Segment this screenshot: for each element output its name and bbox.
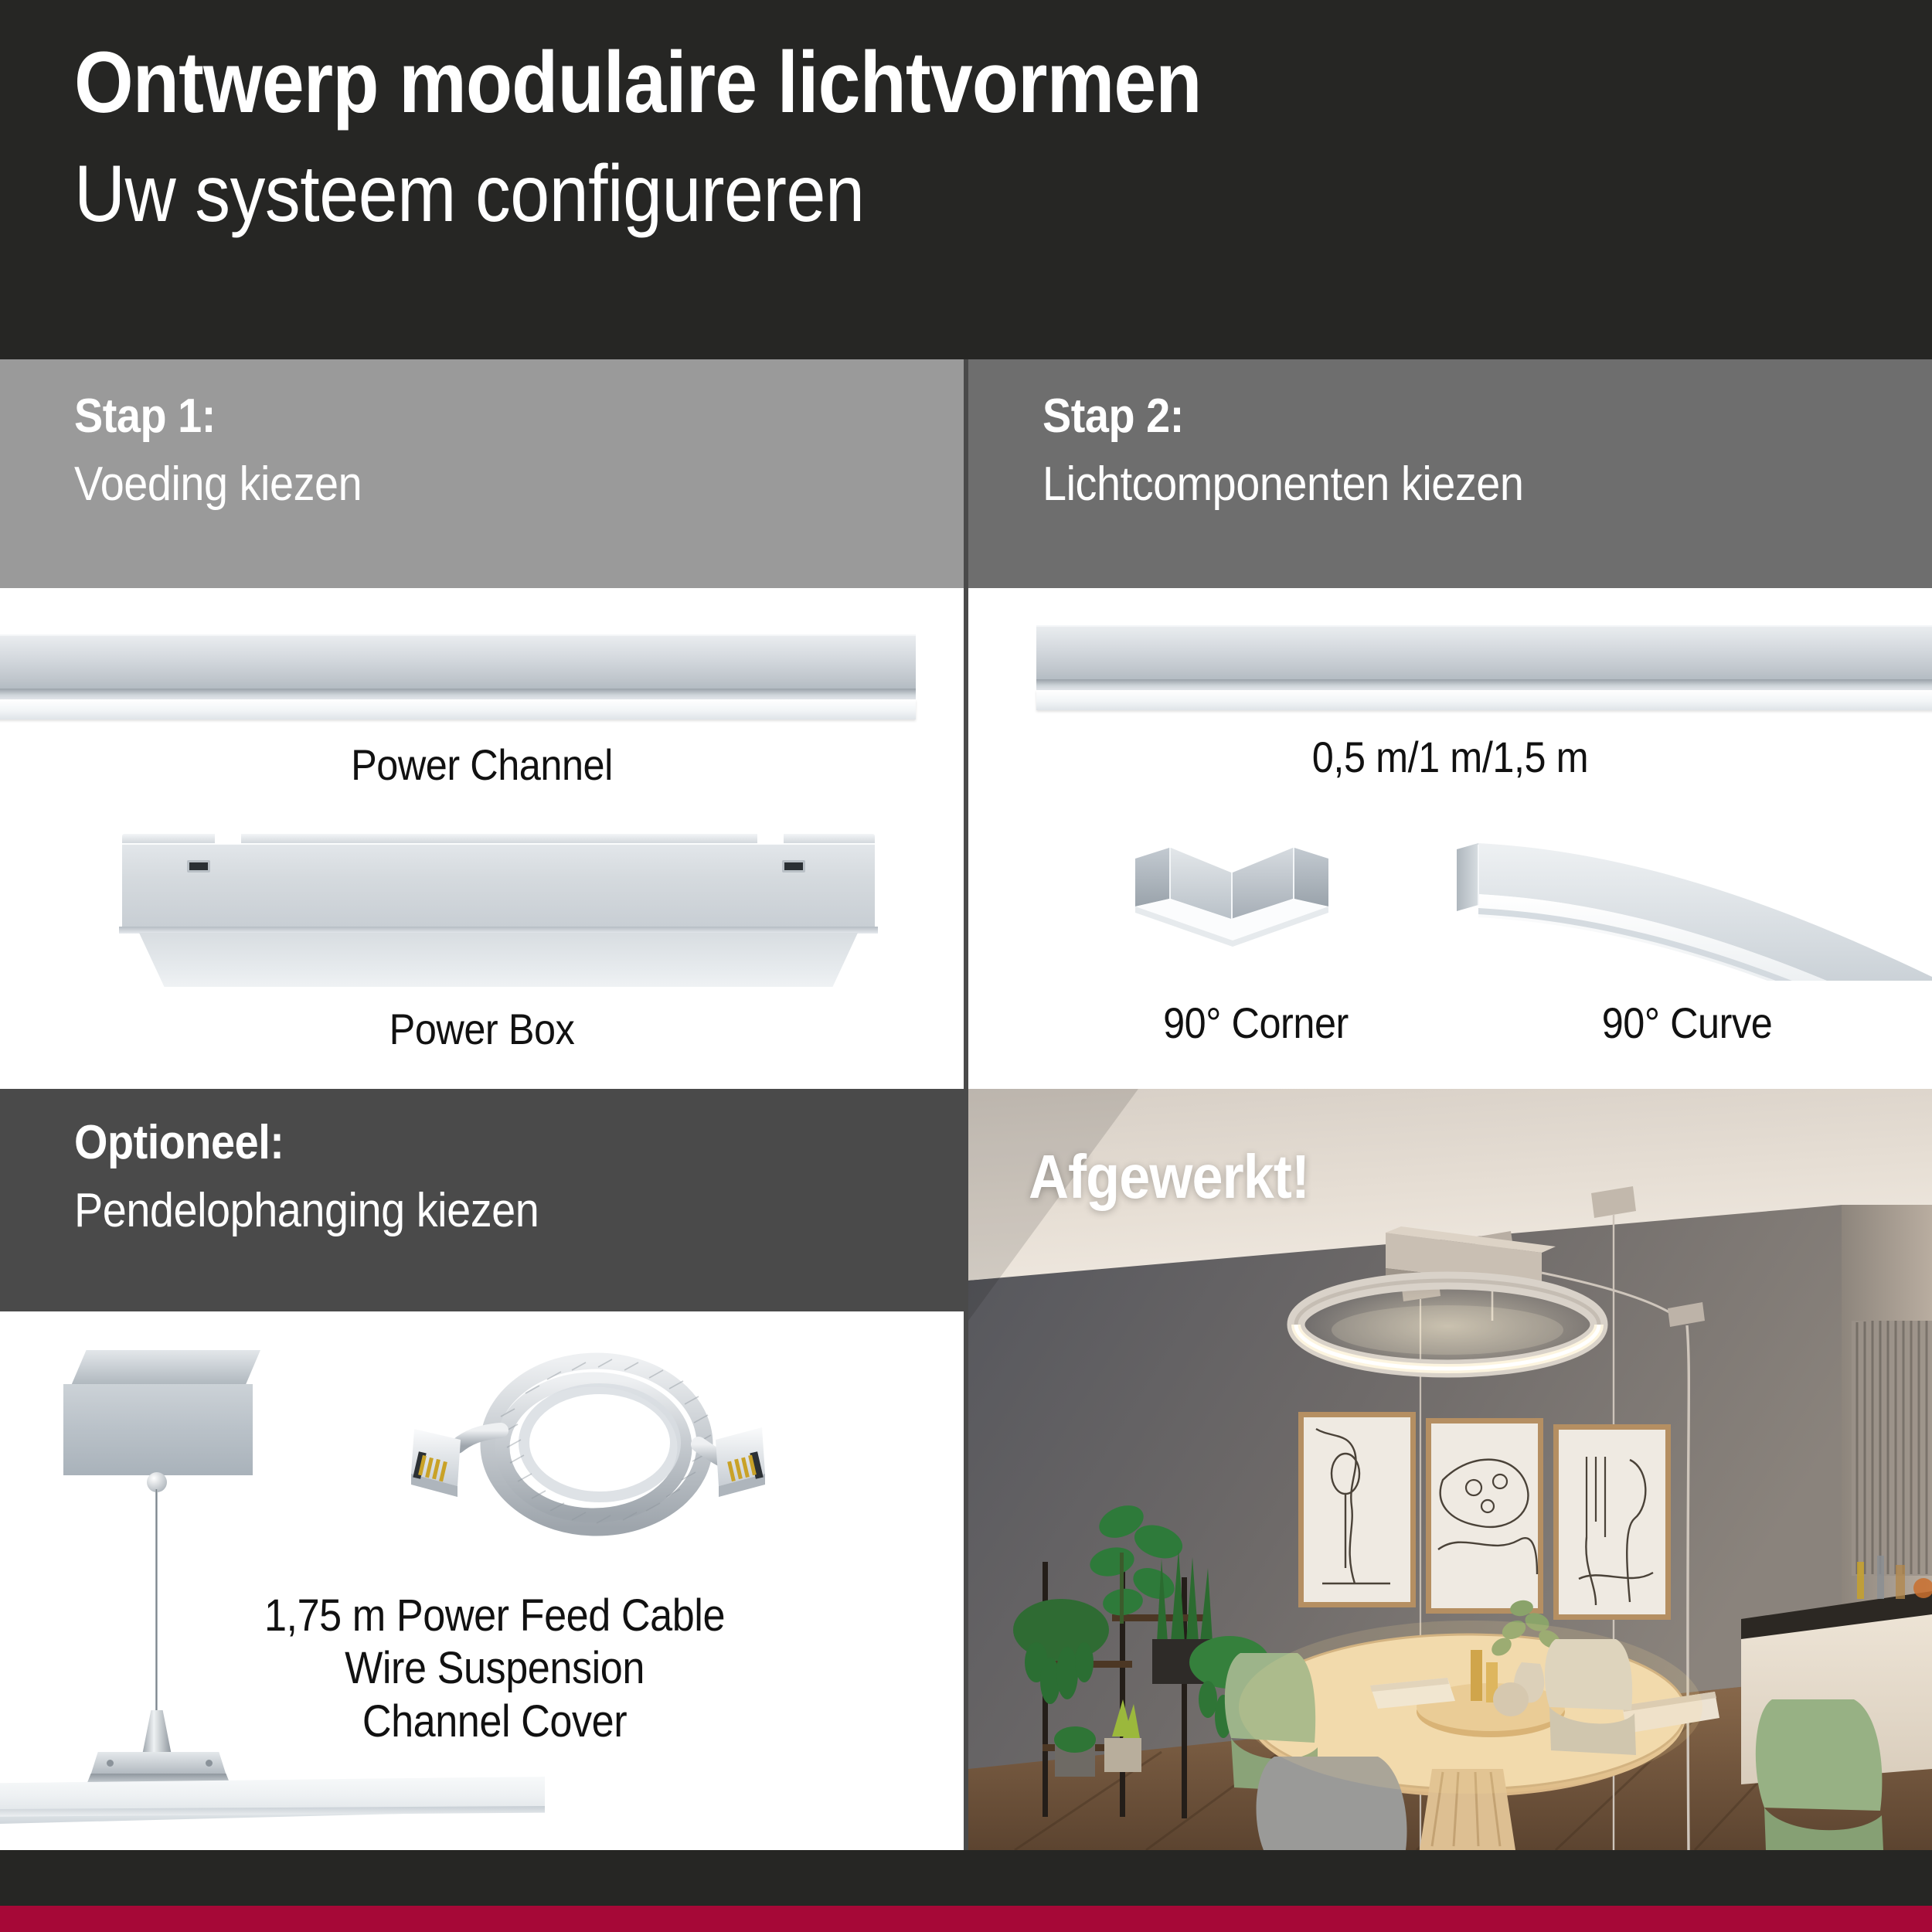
product-label-curve: 90° Curve	[1499, 998, 1875, 1048]
step-2-products-panel: 0,5 m/1 m/1,5 m	[968, 588, 1932, 1089]
accessory-item-cover: Channel Cover	[161, 1696, 828, 1748]
suspension-screw	[206, 1760, 213, 1767]
power-box-face	[122, 843, 875, 928]
product-label-power-channel: Power Channel	[48, 740, 915, 790]
rail-diffuser	[0, 699, 916, 719]
power-feed-cable-icon	[386, 1345, 788, 1577]
product-label-corner: 90° Corner	[1068, 998, 1444, 1048]
rail-lip	[1036, 679, 1932, 690]
optional-band: Optioneel: Pendelophanging kiezen	[0, 1089, 964, 1311]
rail-body	[0, 634, 916, 689]
optional-kicker: Optioneel:	[74, 1115, 284, 1170]
power-box-bottom	[139, 933, 858, 987]
rail-body	[1036, 625, 1932, 679]
result-photo: Afgewerkt!	[968, 1089, 1932, 1850]
step-1-subtitle: Voeding kiezen	[74, 457, 362, 512]
power-box-notch	[757, 834, 784, 844]
footer-bar	[0, 1850, 1932, 1906]
linear-rail-icon	[0, 634, 916, 719]
corner-module-icon	[1132, 838, 1379, 970]
suspension-screw	[107, 1760, 114, 1767]
power-box-icon	[116, 834, 881, 988]
suspension-canopy	[63, 1384, 253, 1475]
product-label-power-box: Power Box	[48, 1004, 915, 1054]
page-subtitle: Uw systeem configureren	[74, 151, 864, 236]
result-label: Afgewerkt!	[1029, 1141, 1309, 1213]
suspension-canopy-top	[71, 1350, 260, 1386]
power-box-edge	[119, 927, 878, 934]
curve-module-icon	[1455, 834, 1932, 981]
step-1-kicker: Stap 1:	[74, 389, 216, 444]
accessories-panel: 1,75 m Power Feed Cable Wire Suspension …	[0, 1311, 964, 1850]
linear-rail-icon	[1036, 625, 1932, 712]
page-title: Ontwerp modulaire lichtvormen	[74, 37, 1202, 129]
step-2-band: Stap 2: Lichtcomponenten kiezen	[968, 359, 1932, 588]
rail-diffuser	[1036, 690, 1932, 710]
step-2-kicker: Stap 2:	[1043, 389, 1184, 444]
accessory-item-cable: 1,75 m Power Feed Cable	[161, 1590, 828, 1642]
step-1-band: Stap 1: Voeding kiezen	[0, 359, 964, 588]
step-1-products-panel: Power Channel Power Box	[0, 588, 964, 1089]
step-2-subtitle: Lichtcomponenten kiezen	[1043, 457, 1523, 512]
power-box-connector-slot	[782, 860, 805, 872]
power-box-connector-slot	[187, 860, 210, 872]
optional-subtitle: Pendelophanging kiezen	[74, 1183, 539, 1238]
channel-cover-icon	[0, 1777, 545, 1825]
power-box-notch	[215, 834, 241, 844]
product-label-lengths: 0,5 m/1 m/1,5 m	[1016, 732, 1883, 782]
page-header: Ontwerp modulaire lichtvormen Uw systeem…	[0, 0, 1932, 359]
footer-accent-strip	[0, 1906, 1932, 1932]
accessory-item-suspension: Wire Suspension	[161, 1642, 828, 1695]
infographic-page: Ontwerp modulaire lichtvormen Uw systeem…	[0, 0, 1932, 1932]
accessory-list: 1,75 m Power Feed Cable Wire Suspension …	[124, 1590, 866, 1748]
rail-lip	[0, 689, 916, 699]
